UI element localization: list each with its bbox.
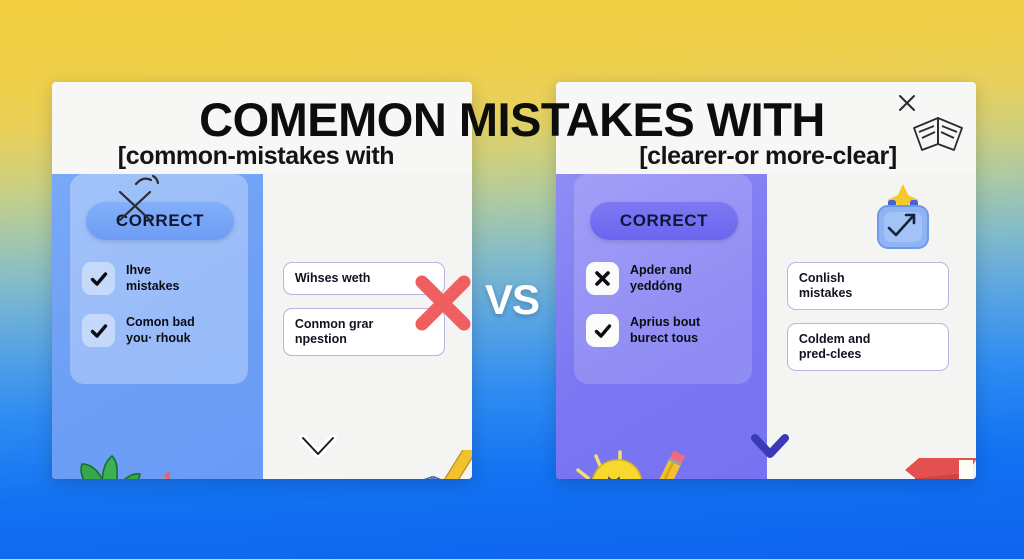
right-comparison-card: CORRECT Apder and yeddóng Aprius bout bu… [556,82,976,479]
right-panel: CORRECT Apder and yeddóng Aprius bout bu… [556,174,767,479]
right-checklist-item[interactable]: Aprius bout burect tous [586,314,761,347]
book-stack-icon [885,444,976,479]
lightbulb-pencil-icon [568,444,686,479]
left-checklist-item-label: Ihve mistakes [126,263,180,294]
right-checklist-item[interactable]: Apder and yeddóng [586,262,761,295]
right-note[interactable]: Coldem and pred-clees [787,323,949,371]
right-checklist-item-label: Apder and yeddóng [630,263,692,294]
calendar-chart-icon [868,182,938,254]
open-book-outline-icon [908,106,968,156]
open-book-pencil-icon [371,450,472,479]
right-checklist-item-label: Aprius bout burect tous [630,315,700,346]
chevron-down-icon [296,428,340,464]
right-notes: Conlish mistakes Coldem and pred-clees [787,262,955,384]
versus-label: VS [462,276,562,324]
right-checklist: Apder and yeddóng Aprius bout burect tou… [586,262,761,366]
potted-plant-pencil-icon [58,442,170,479]
left-checklist: Ihve mistakes Comon bad you· rhouk [82,262,257,366]
left-checklist-item[interactable]: Comon bad you· rhouk [82,314,257,347]
check-icon [82,262,115,295]
sparkle-x-icon [110,170,164,224]
x-icon [586,262,619,295]
check-icon [82,314,115,347]
chevron-down-icon [748,428,792,464]
left-comparison-card: CORRECT Ihve mistakes Comon bad you· rho… [52,82,472,479]
right-note[interactable]: Conlish mistakes [787,262,949,310]
left-checklist-item-label: Comon bad you· rhouk [126,315,195,346]
left-checklist-item[interactable]: Ihve mistakes [82,262,257,295]
right-correct-badge-label: CORRECT [620,211,708,231]
right-correct-badge: CORRECT [590,202,738,240]
check-icon [586,314,619,347]
